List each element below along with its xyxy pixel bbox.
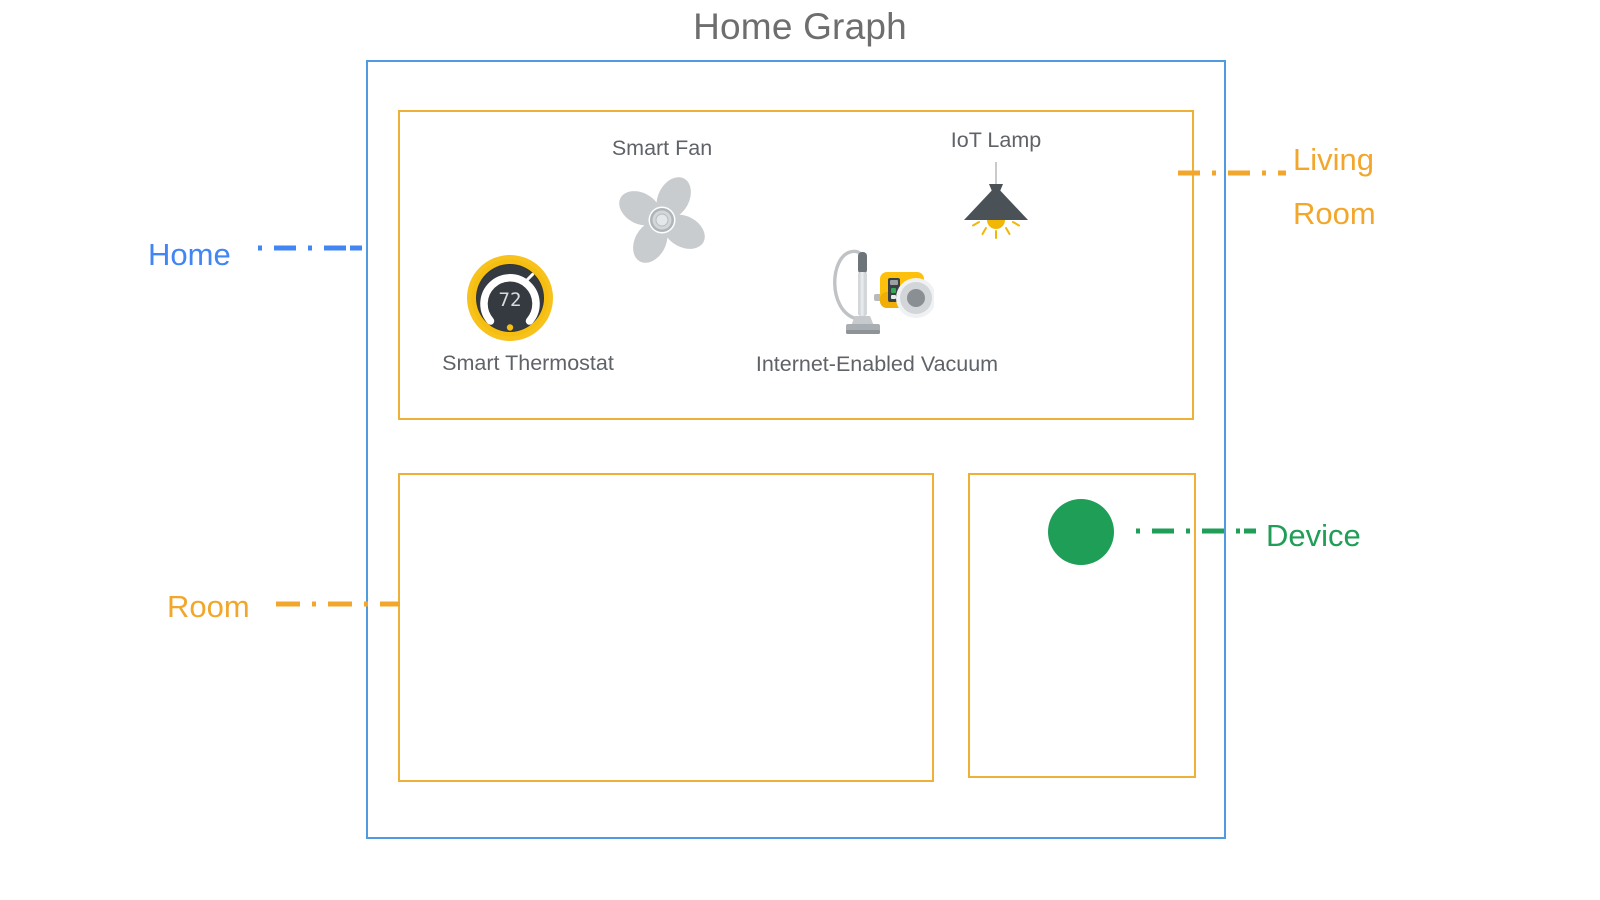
vacuum-icon <box>822 236 934 336</box>
room-container-empty-left <box>398 473 934 782</box>
leader-line-device <box>1136 528 1260 533</box>
device-label-smart-thermostat: Smart Thermostat <box>428 351 628 376</box>
page-title: Home Graph <box>0 6 1600 48</box>
fan-icon <box>608 173 716 267</box>
leader-line-home <box>258 245 366 250</box>
pendant-lamp-icon <box>958 162 1034 242</box>
device-label-iot-lamp: IoT Lamp <box>896 128 1096 153</box>
device-node[interactable] <box>1048 499 1114 565</box>
annotation-label-device: Device <box>1266 509 1361 563</box>
device-label-smart-fan: Smart Fan <box>562 136 762 161</box>
leader-line-living-room <box>1178 170 1286 175</box>
annotation-label-home: Home <box>148 228 231 282</box>
annotation-living-room-line1: Living <box>1293 142 1374 177</box>
device-label-internet-enabled-vacuum: Internet-Enabled Vacuum <box>746 352 1008 377</box>
leader-line-room <box>276 601 400 606</box>
thermostat-display-value: 72 <box>499 289 522 311</box>
thermostat-icon: 72 <box>466 254 554 342</box>
annotation-label-living-room: LivingRoom <box>1293 133 1376 242</box>
annotation-label-room: Room <box>167 580 250 634</box>
annotation-living-room-line2: Room <box>1293 196 1376 231</box>
